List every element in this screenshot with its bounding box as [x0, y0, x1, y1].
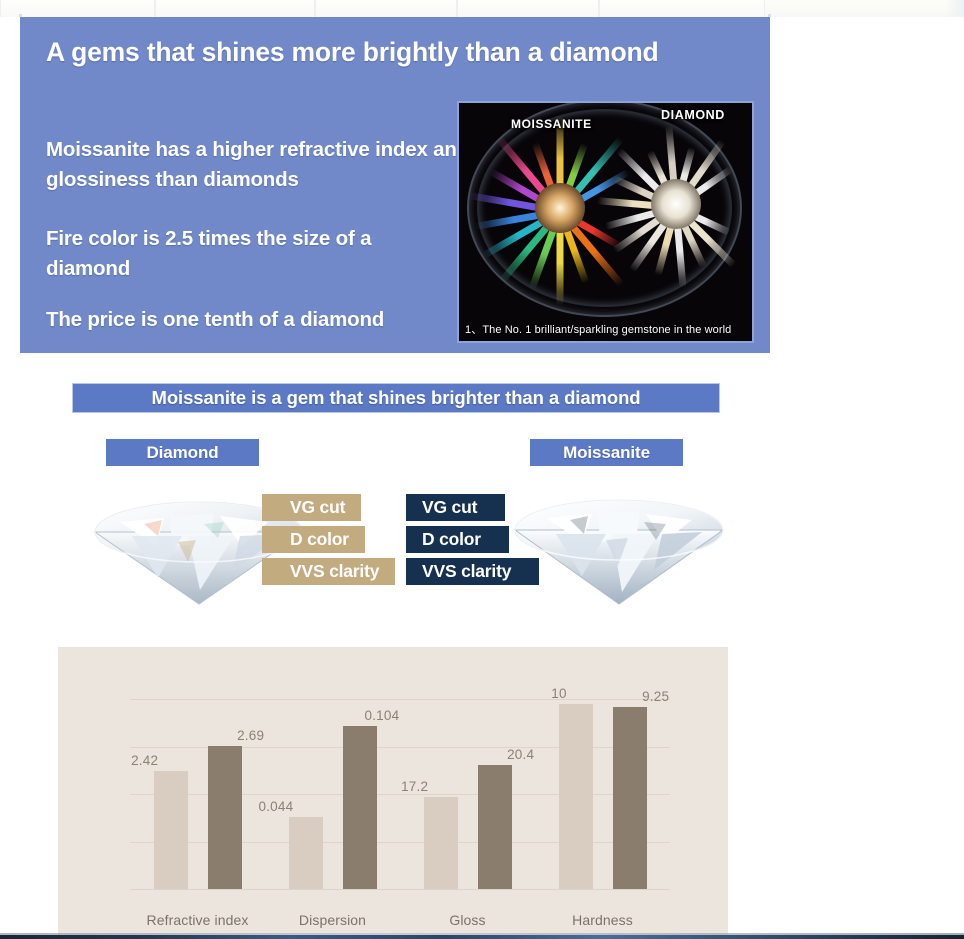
- spec-tags-diamond: VG cut D color VVS clarity: [262, 494, 395, 585]
- chart-value-label: 17.2: [401, 779, 428, 794]
- chart-bar[interactable]: [613, 707, 647, 889]
- label-chip-moissanite-text: Moissanite: [563, 443, 650, 463]
- gem-comparison-photo: MOISSANITE DIAMOND 1、The No. 1 brilliant…: [457, 101, 754, 343]
- spec-tag: D color: [262, 526, 365, 553]
- hero-title: A gems that shines more brightly than a …: [46, 37, 746, 68]
- slide-page: A gems that shines more brightly than a …: [0, 0, 964, 939]
- hero-panel: A gems that shines more brightly than a …: [20, 17, 770, 353]
- gem-comparison-stage: VG cut D color VVS clarity VG cut D colo…: [0, 478, 964, 628]
- chart-bar[interactable]: [478, 765, 512, 889]
- chart-axis-line: [130, 889, 670, 890]
- chart-value-label: 2.42: [131, 753, 158, 768]
- photo-caption: 1、The No. 1 brilliant/sparkling gemstone…: [465, 321, 750, 337]
- chart-group: 17.220.4: [400, 699, 535, 889]
- comparison-banner-text: Moissanite is a gem that shines brighter…: [152, 387, 641, 409]
- chart-category-label: Dispersion: [265, 912, 400, 928]
- diamond-illustration-right: [512, 480, 727, 608]
- label-chip-diamond: Diamond: [106, 439, 259, 466]
- spec-tag: VG cut: [406, 494, 505, 521]
- chart-category-label: Hardness: [535, 912, 670, 928]
- photo-label-moissanite: MOISSANITE: [511, 117, 592, 131]
- photo-label-diamond: DIAMOND: [661, 108, 725, 122]
- hero-paragraph-1: Moissanite has a higher refractive index…: [46, 135, 476, 195]
- label-chip-diamond-text: Diamond: [146, 443, 218, 463]
- chart-group: 109.25: [535, 699, 670, 889]
- spec-tag: VG cut: [262, 494, 361, 521]
- chart-bar[interactable]: [289, 817, 323, 889]
- chart-bar[interactable]: [424, 797, 458, 889]
- chart-value-label: 20.4: [507, 747, 534, 762]
- chart-group: 2.422.69: [130, 699, 265, 889]
- toolbar-cell[interactable]: [599, 0, 765, 17]
- bar-chart-panel: 2.422.690.0440.10417.220.4109.25 Refract…: [58, 647, 728, 936]
- label-chip-moissanite: Moissanite: [530, 439, 683, 466]
- chart-bar[interactable]: [208, 746, 242, 889]
- diamond-core-icon: [651, 179, 701, 229]
- moissanite-core-icon: [535, 183, 585, 233]
- chart-bar[interactable]: [154, 771, 188, 889]
- chart-value-label: 0.044: [259, 799, 294, 814]
- chart-value-label: 9.25: [642, 689, 669, 704]
- hero-paragraph-2: Fire color is 2.5 times the size of a di…: [46, 224, 446, 284]
- chart-group: 0.0440.104: [265, 699, 400, 889]
- chart-plot-area: 2.422.690.0440.10417.220.4109.25: [130, 699, 670, 889]
- comparison-banner: Moissanite is a gem that shines brighter…: [72, 383, 720, 413]
- spec-tag: D color: [406, 526, 509, 553]
- chart-value-label: 2.69: [237, 728, 264, 743]
- toolbar-cell[interactable]: [0, 0, 155, 17]
- toolbar-cell[interactable]: [315, 0, 457, 17]
- toolbar-cell[interactable]: [457, 0, 599, 17]
- chart-category-label: Gloss: [400, 912, 535, 928]
- chart-bar[interactable]: [343, 726, 377, 889]
- chart-category-label: Refractive index: [130, 912, 265, 928]
- hero-paragraph-3: The price is one tenth of a diamond: [46, 305, 476, 335]
- moissanite-shape-icon: [512, 480, 727, 608]
- photo-background: MOISSANITE DIAMOND 1、The No. 1 brilliant…: [459, 103, 752, 341]
- chart-bar[interactable]: [559, 704, 593, 889]
- toolbar-strip: [0, 0, 964, 17]
- spec-tag: VVS clarity: [262, 558, 395, 585]
- toolbar-cell[interactable]: [155, 0, 315, 17]
- chart-value-label: 10: [551, 686, 566, 701]
- bottom-strip: [0, 935, 964, 939]
- chart-value-label: 0.104: [365, 708, 400, 723]
